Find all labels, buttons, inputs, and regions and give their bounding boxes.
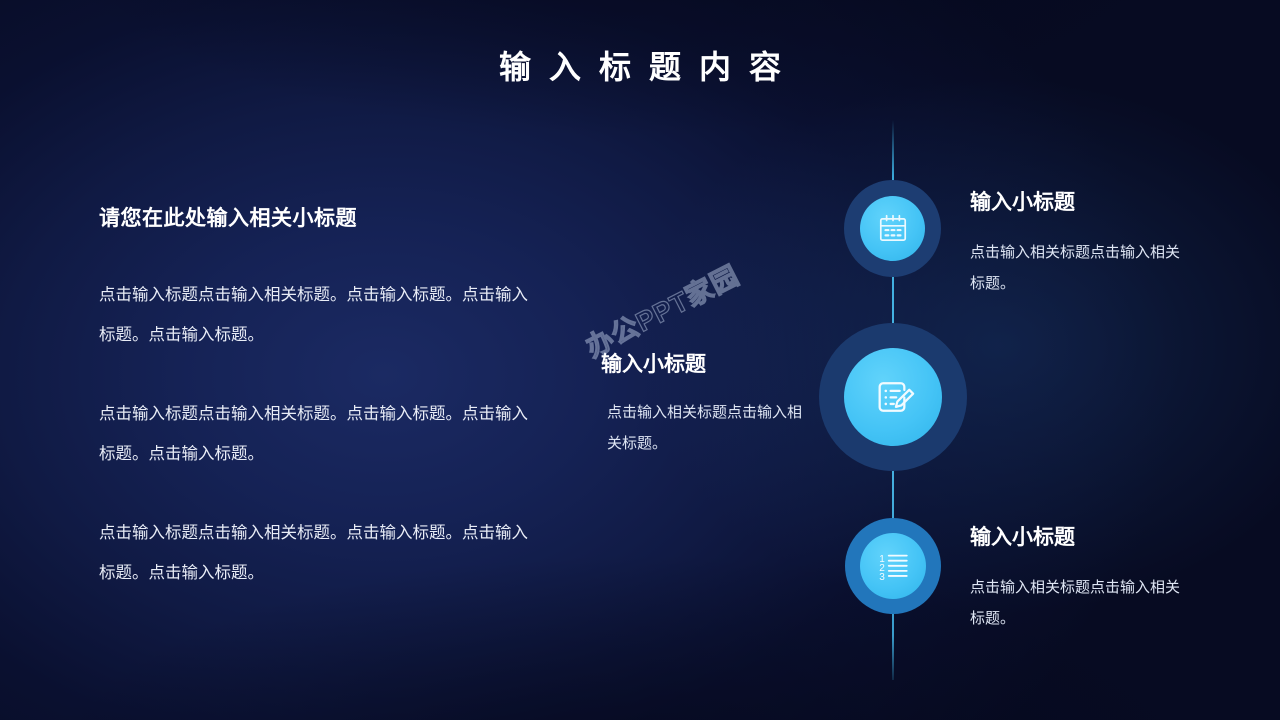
calendar-icon	[876, 212, 910, 246]
left-paragraph-1: 点击输入标题点击输入相关标题。点击输入标题。点击输入标题。点击输入标题。	[99, 275, 529, 355]
notepad-edit-icon	[869, 373, 917, 421]
svg-text:3: 3	[879, 572, 885, 583]
middle-block-body: 点击输入相关标题点击输入相关标题。	[601, 397, 816, 459]
numbered-list-icon: 1 2 3	[875, 549, 911, 583]
timeline-node-3[interactable]: 1 2 3	[845, 518, 941, 614]
node-1-disc	[860, 196, 925, 261]
timeline-node-2[interactable]	[819, 323, 967, 471]
timeline-node-1[interactable]	[844, 180, 941, 277]
right-text-block-3: 输入小标题 点击输入相关标题点击输入相关标题。	[970, 525, 1180, 634]
middle-block-heading: 输入小标题	[601, 352, 816, 377]
page-title: 输入标题内容	[0, 42, 1280, 88]
left-text-column: 请您在此处输入相关小标题 点击输入标题点击输入相关标题。点击输入标题。点击输入标…	[99, 206, 529, 593]
node-2-disc	[844, 348, 942, 446]
watermark-text: 办公PPT家园	[578, 254, 745, 365]
slide-canvas: 输入标题内容 请您在此处输入相关小标题 点击输入标题点击输入相关标题。点击输入标…	[0, 0, 1280, 720]
left-column-heading: 请您在此处输入相关小标题	[99, 206, 529, 231]
left-paragraph-3: 点击输入标题点击输入相关标题。点击输入标题。点击输入标题。点击输入标题。	[99, 513, 529, 593]
node-3-disc: 1 2 3	[860, 533, 926, 599]
left-paragraph-2: 点击输入标题点击输入相关标题。点击输入标题。点击输入标题。点击输入标题。	[99, 394, 529, 474]
right-text-block-1: 输入小标题 点击输入相关标题点击输入相关标题。	[970, 190, 1180, 299]
middle-text-block: 输入小标题 点击输入相关标题点击输入相关标题。	[601, 352, 816, 459]
right-block-1-heading: 输入小标题	[970, 190, 1180, 215]
right-block-1-body: 点击输入相关标题点击输入相关标题。	[970, 237, 1180, 299]
right-block-3-heading: 输入小标题	[970, 525, 1180, 550]
right-block-3-body: 点击输入相关标题点击输入相关标题。	[970, 572, 1180, 634]
